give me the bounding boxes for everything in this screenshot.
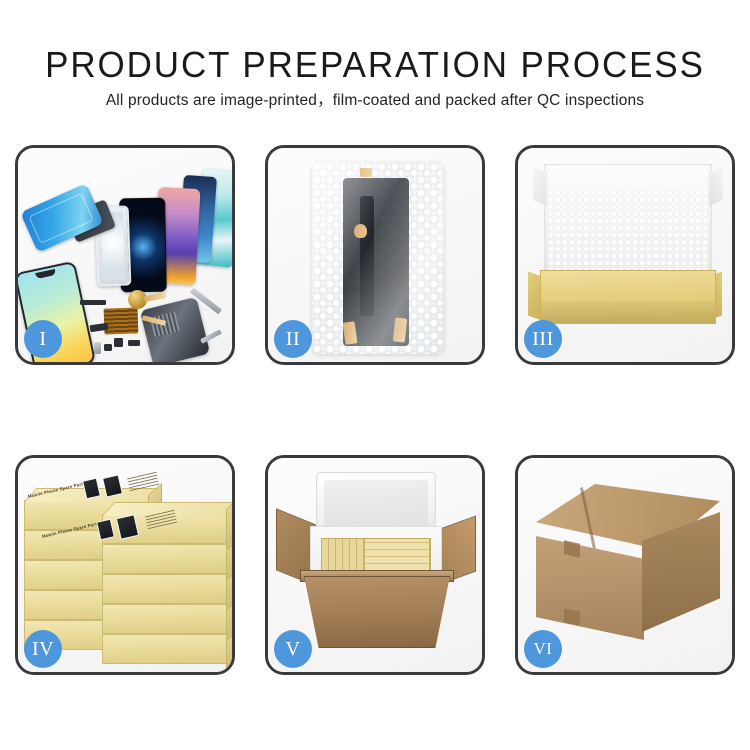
step-badge-6: VI [524,630,562,668]
process-step-2: II [265,145,485,365]
step-badge-1: I [24,320,62,358]
box-label-thumbnail [82,478,101,500]
kraft-box [102,574,228,604]
adhesive-film-blue [20,183,104,252]
step-badge-2: II [274,320,312,358]
plastic-sheen [312,162,444,354]
cardboard-carton-open [304,576,450,648]
phone-back-housing [140,297,210,365]
process-step-6: VI [515,455,735,675]
chip-grid-part [104,307,139,334]
step-1-photo: I [18,148,232,362]
process-step-grid: I II [0,0,750,750]
step-2-photo: II [268,148,482,362]
process-step-1: I [15,145,235,365]
bubble-wrap-pouch [312,162,444,354]
step-badge-3: III [524,320,562,358]
product-preparation-infographic: PRODUCT PREPARATION PROCESS All products… [0,0,750,750]
kraft-box [102,634,228,664]
box-label-thumbnail [102,474,123,497]
process-step-4: Mobile Phone Spare Parts Mobile Phone Sp… [15,455,235,675]
small-part [104,344,112,351]
step-6-photo: VI [518,458,732,672]
carton-front-face [536,536,644,640]
small-part [128,340,140,346]
flex-cable-part [144,292,167,302]
kraft-box [102,604,228,634]
process-step-5: V [265,455,485,675]
step-4-photo: Mobile Phone Spare Parts Mobile Phone Sp… [18,458,232,672]
step-5-photo: V [268,458,482,672]
small-part [80,300,106,305]
step-badge-5: V [274,630,312,668]
step-3-photo: III [518,148,732,362]
small-part [114,338,123,347]
kraft-box-tray [540,270,716,324]
foam-box-lid [316,472,436,534]
sim-tray-part [94,342,101,354]
process-step-3: III [515,145,735,365]
kraft-box [102,544,228,574]
foam-sheet [548,190,708,274]
step-badge-4: IV [24,630,62,668]
